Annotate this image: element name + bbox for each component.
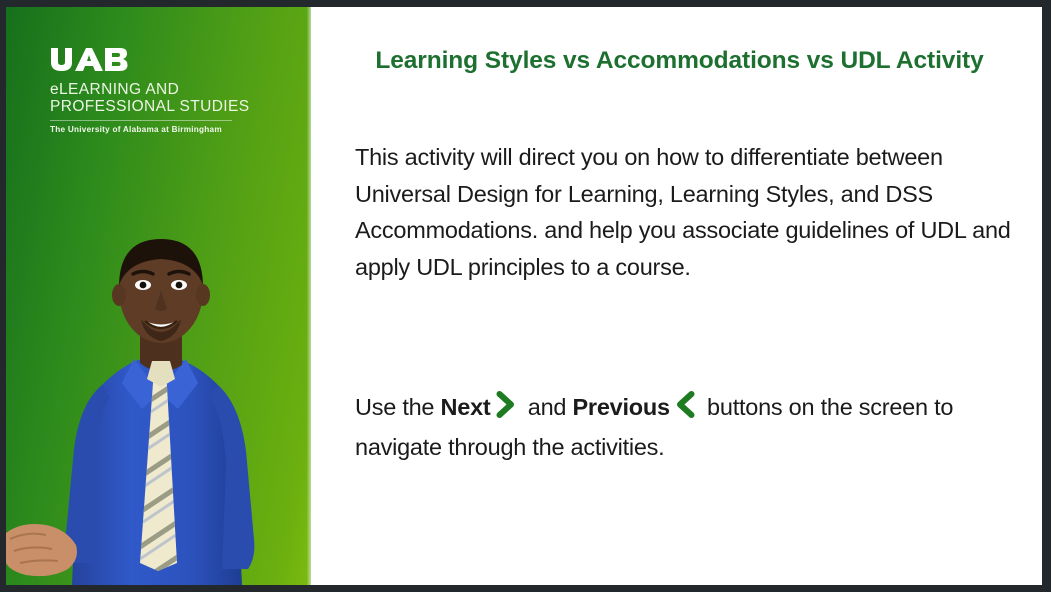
uab-wordmark-icon <box>50 47 128 72</box>
chevron-left-icon <box>675 391 696 429</box>
navigation-instruction: Use the Next and Previous buttons on the… <box>355 389 1020 465</box>
nav-prefix-text: Use the <box>355 394 441 420</box>
brand-panel: eLEARNING AND PROFESSIONAL STUDIES The U… <box>6 7 311 585</box>
nav-middle-text: and <box>521 394 572 420</box>
activity-description: This activity will direct you on how to … <box>355 139 1020 285</box>
university-tagline: The University of Alabama at Birmingham <box>50 125 250 134</box>
unit-name-line-2: PROFESSIONAL STUDIES <box>50 98 250 115</box>
uab-logo-lockup: eLEARNING AND PROFESSIONAL STUDIES The U… <box>50 47 250 134</box>
next-button-label: Next <box>441 394 491 420</box>
previous-button-label: Previous <box>573 394 670 420</box>
unit-name-line-1: eLEARNING AND <box>50 81 250 98</box>
presenter-photo <box>6 233 311 585</box>
logo-divider <box>50 120 232 121</box>
slide: eLEARNING AND PROFESSIONAL STUDIES The U… <box>0 0 1051 592</box>
chevron-right-icon <box>495 391 516 429</box>
content-area: Learning Styles vs Accommodations vs UDL… <box>311 7 1042 585</box>
page-title: Learning Styles vs Accommodations vs UDL… <box>355 45 1004 76</box>
